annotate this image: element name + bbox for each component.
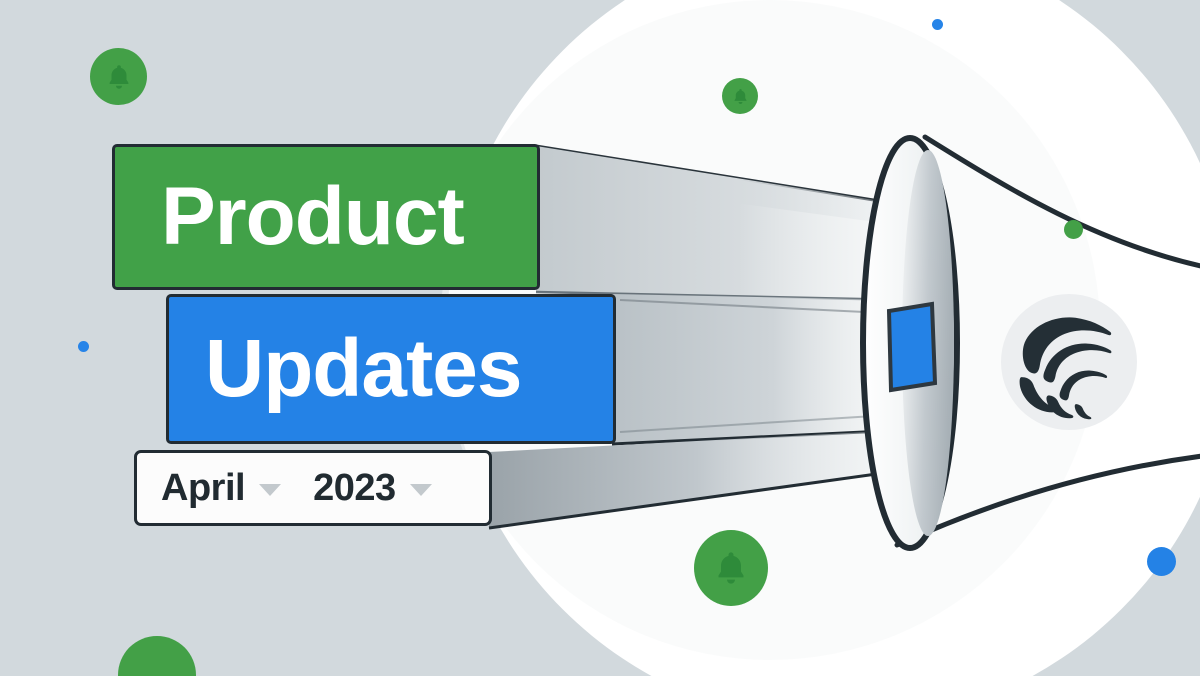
- year-select-value[interactable]: 2023: [313, 467, 396, 510]
- chevron-down-icon-year[interactable]: [410, 484, 432, 496]
- bell-icon-bottom: [694, 530, 768, 606]
- date-row: April 2023: [137, 467, 489, 510]
- megaphone-mouth-blue-patch: [889, 304, 935, 390]
- chevron-down-icon-month[interactable]: [259, 484, 281, 496]
- page-title-line-1: Product: [115, 176, 464, 258]
- product-title-card: Product: [112, 144, 540, 290]
- month-select-value[interactable]: April: [161, 467, 245, 510]
- blue-dot-bottom-right: [1147, 547, 1176, 576]
- bell-icon-top-left: [90, 48, 147, 105]
- blue-dot-top: [932, 19, 943, 30]
- product-updates-banner: Product Updates April 2023: [0, 0, 1200, 676]
- green-dot-on-cone: [1064, 220, 1083, 239]
- date-selector-bar: April 2023: [134, 450, 492, 526]
- bell-icon-top-middle: [722, 78, 758, 114]
- page-title-line-2: Updates: [169, 328, 522, 410]
- blue-dot-left: [78, 341, 89, 352]
- logo-badge-circle: [1001, 294, 1137, 430]
- updates-title-card: Updates: [166, 294, 616, 444]
